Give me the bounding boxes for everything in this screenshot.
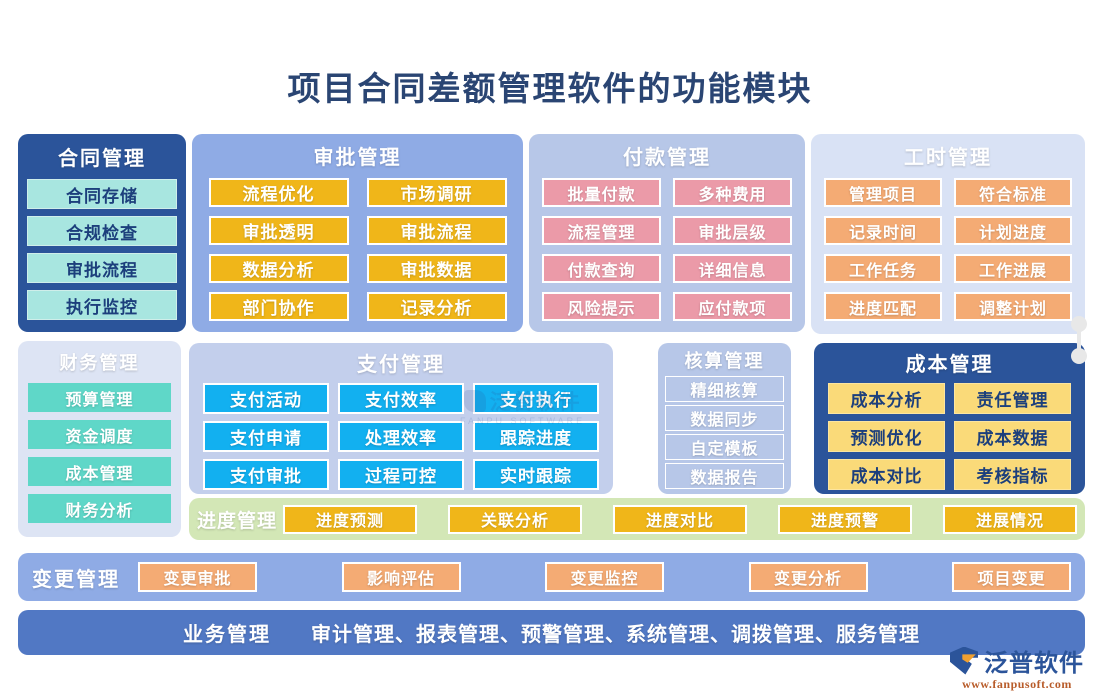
tile-payment-due-1[interactable]: 多种费用 [673, 178, 792, 207]
tile-accounting-0[interactable]: 精细核算 [665, 376, 784, 402]
tile-grid-pay: 支付活动 支付效率 支付执行 支付申请 处理效率 跟踪进度 支付审批 过程可控 … [189, 377, 613, 490]
tile-pay-0[interactable]: 支付活动 [203, 383, 329, 414]
panel-cost-management: 成本管理 成本分析 责任管理 预测优化 成本数据 成本对比 考核指标 [814, 343, 1085, 494]
panel-accounting-management: 核算管理 精细核算 数据同步 自定模板 数据报告 [658, 343, 791, 494]
tile-contract-1[interactable]: 合规检查 [27, 216, 177, 246]
tile-approval-0[interactable]: 流程优化 [209, 178, 349, 207]
panel-title-payment-due: 付款管理 [529, 134, 805, 170]
tile-pay-3[interactable]: 支付申请 [203, 421, 329, 452]
panel-change-management: 变更管理 变更审批 影响评估 变更监控 变更分析 项目变更 [18, 553, 1085, 601]
panel-title-accounting: 核算管理 [658, 343, 791, 373]
tile-contract-0[interactable]: 合同存储 [27, 179, 177, 209]
business-modules-text: 审计管理、报表管理、预警管理、系统管理、调拨管理、服务管理 [311, 618, 920, 647]
tile-pay-7[interactable]: 过程可控 [338, 459, 464, 490]
tile-progress-3[interactable]: 进度预警 [778, 505, 912, 534]
tile-accounting-2[interactable]: 自定模板 [665, 434, 784, 460]
tile-payment-due-7[interactable]: 应付款项 [673, 292, 792, 321]
tile-accounting-3[interactable]: 数据报告 [665, 463, 784, 489]
tile-grid-approval: 流程优化 市场调研 审批透明 审批流程 数据分析 审批数据 部门协作 记录分析 [192, 170, 523, 321]
tile-payment-due-2[interactable]: 流程管理 [542, 216, 661, 245]
tile-approval-5[interactable]: 审批数据 [367, 254, 507, 283]
panel-title-finance: 财务管理 [18, 341, 181, 375]
tile-pay-4[interactable]: 处理效率 [338, 421, 464, 452]
tile-worktime-5[interactable]: 工作进展 [954, 254, 1072, 283]
tile-worktime-0[interactable]: 管理项目 [824, 178, 942, 207]
tile-grid-contract: 合同存储 合规检查 审批流程 执行监控 [18, 171, 186, 320]
tile-grid-cost: 成本分析 责任管理 预测优化 成本数据 成本对比 考核指标 [814, 377, 1085, 490]
tile-change-4[interactable]: 项目变更 [952, 562, 1071, 592]
tile-worktime-3[interactable]: 计划进度 [954, 216, 1072, 245]
panel-title-pay: 支付管理 [189, 343, 613, 377]
tile-payment-due-0[interactable]: 批量付款 [542, 178, 661, 207]
panel-contract-management: 合同管理 合同存储 合规检查 审批流程 执行监控 [18, 134, 186, 332]
panel-finance-management: 财务管理 预算管理 资金调度 成本管理 财务分析 [18, 341, 181, 537]
tile-change-1[interactable]: 影响评估 [342, 562, 461, 592]
panel-title-business: 业务管理 [183, 618, 271, 647]
panel-title-cost: 成本管理 [814, 343, 1085, 377]
tile-progress-1[interactable]: 关联分析 [448, 505, 582, 534]
panel-title-contract: 合同管理 [18, 134, 186, 171]
brand-name: 泛普软件 [984, 643, 1084, 678]
tile-payment-due-5[interactable]: 详细信息 [673, 254, 792, 283]
tile-pay-6[interactable]: 支付审批 [203, 459, 329, 490]
panel-title-progress: 进度管理 [197, 506, 277, 533]
brand-logo-row: 泛普软件 [950, 643, 1084, 678]
tile-approval-6[interactable]: 部门协作 [209, 292, 349, 321]
tile-grid-progress: 进度预测 关联分析 进度对比 进度预警 进展情况 [283, 505, 1077, 534]
brand-url: www.fanpusoft.com [962, 677, 1072, 692]
tile-finance-2[interactable]: 成本管理 [28, 457, 171, 486]
tile-payment-due-6[interactable]: 风险提示 [542, 292, 661, 321]
tile-approval-1[interactable]: 市场调研 [367, 178, 507, 207]
tile-change-2[interactable]: 变更监控 [545, 562, 664, 592]
tile-cost-0[interactable]: 成本分析 [828, 383, 945, 414]
tile-change-0[interactable]: 变更审批 [138, 562, 257, 592]
fanpu-logo-icon [950, 647, 978, 675]
brand-logo: 泛普软件 www.fanpusoft.com [950, 643, 1084, 692]
tile-worktime-7[interactable]: 调整计划 [954, 292, 1072, 321]
tile-approval-3[interactable]: 审批流程 [367, 216, 507, 245]
tile-payment-due-4[interactable]: 付款查询 [542, 254, 661, 283]
decorative-connector [1068, 316, 1090, 364]
tile-change-3[interactable]: 变更分析 [749, 562, 868, 592]
panel-pay-management: 支付管理 支付活动 支付效率 支付执行 支付申请 处理效率 跟踪进度 支付审批 … [189, 343, 613, 494]
tile-cost-4[interactable]: 成本对比 [828, 459, 945, 490]
tile-payment-due-3[interactable]: 审批层级 [673, 216, 792, 245]
tile-finance-0[interactable]: 预算管理 [28, 383, 171, 412]
tile-accounting-1[interactable]: 数据同步 [665, 405, 784, 431]
tile-progress-4[interactable]: 进展情况 [943, 505, 1077, 534]
tile-finance-3[interactable]: 财务分析 [28, 494, 171, 523]
tile-grid-change: 变更审批 影响评估 变更监控 变更分析 项目变更 [138, 562, 1071, 592]
tile-worktime-2[interactable]: 记录时间 [824, 216, 942, 245]
tile-approval-7[interactable]: 记录分析 [367, 292, 507, 321]
tile-cost-1[interactable]: 责任管理 [954, 383, 1071, 414]
tile-grid-finance: 预算管理 资金调度 成本管理 财务分析 [18, 375, 181, 523]
tile-contract-3[interactable]: 执行监控 [27, 290, 177, 320]
connector-knob-bottom [1071, 348, 1087, 364]
tile-cost-5[interactable]: 考核指标 [954, 459, 1071, 490]
tile-pay-2[interactable]: 支付执行 [473, 383, 599, 414]
tile-approval-2[interactable]: 审批透明 [209, 216, 349, 245]
tile-progress-0[interactable]: 进度预测 [283, 505, 417, 534]
tile-grid-accounting: 精细核算 数据同步 自定模板 数据报告 [658, 373, 791, 489]
logo-swoosh-shape [950, 647, 978, 675]
panel-approval-management: 审批管理 流程优化 市场调研 审批透明 审批流程 数据分析 审批数据 部门协作 … [192, 134, 523, 332]
tile-pay-1[interactable]: 支付效率 [338, 383, 464, 414]
tile-approval-4[interactable]: 数据分析 [209, 254, 349, 283]
tile-grid-payment-due: 批量付款 多种费用 流程管理 审批层级 付款查询 详细信息 风险提示 应付款项 [529, 170, 805, 321]
panel-payment-due-management: 付款管理 批量付款 多种费用 流程管理 审批层级 付款查询 详细信息 风险提示 … [529, 134, 805, 332]
tile-worktime-6[interactable]: 进度匹配 [824, 292, 942, 321]
panel-worktime-management: 工时管理 管理项目 符合标准 记录时间 计划进度 工作任务 工作进展 进度匹配 … [811, 134, 1085, 334]
panel-title-change: 变更管理 [32, 563, 120, 592]
panel-progress-management: 进度管理 进度预测 关联分析 进度对比 进度预警 进展情况 [189, 498, 1085, 540]
tile-cost-2[interactable]: 预测优化 [828, 421, 945, 452]
tile-contract-2[interactable]: 审批流程 [27, 253, 177, 283]
panel-title-approval: 审批管理 [192, 134, 523, 170]
panel-business-management: 业务管理 审计管理、报表管理、预警管理、系统管理、调拨管理、服务管理 [18, 610, 1085, 655]
panel-title-worktime: 工时管理 [811, 134, 1085, 170]
tile-grid-worktime: 管理项目 符合标准 记录时间 计划进度 工作任务 工作进展 进度匹配 调整计划 [811, 170, 1085, 321]
tile-pay-5[interactable]: 跟踪进度 [473, 421, 599, 452]
tile-pay-8[interactable]: 实时跟踪 [473, 459, 599, 490]
tile-finance-1[interactable]: 资金调度 [28, 420, 171, 449]
tile-cost-3[interactable]: 成本数据 [954, 421, 1071, 452]
tile-progress-2[interactable]: 进度对比 [613, 505, 747, 534]
tile-worktime-1[interactable]: 符合标准 [954, 178, 1072, 207]
tile-worktime-4[interactable]: 工作任务 [824, 254, 942, 283]
page-title: 项目合同差额管理软件的功能模块 [0, 0, 1100, 105]
